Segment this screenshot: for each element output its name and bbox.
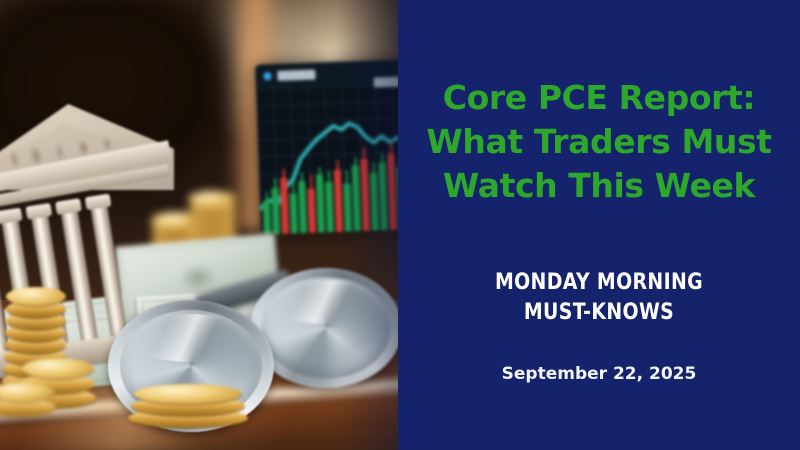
- monitor-label-chip: [277, 70, 315, 81]
- subtitle-line-2: MUST-KNOWS: [426, 298, 772, 328]
- banner-root: Core PCE Report: What Traders Must Watch…: [0, 0, 800, 450]
- coin-stack-under-magnifier: [128, 382, 248, 428]
- publish-date: September 22, 2025: [398, 364, 800, 384]
- headline-line-3: Watch This Week: [398, 164, 800, 208]
- coin-stack-foreground-3: [0, 370, 56, 418]
- text-panel: Core PCE Report: What Traders Must Watch…: [398, 0, 800, 450]
- subtitle-line-1: MONDAY MORNING: [426, 268, 772, 298]
- page-title: Core PCE Report: What Traders Must Watch…: [398, 76, 800, 208]
- headline-line-1: Core PCE Report:: [398, 76, 800, 120]
- hero-photo: [0, 0, 398, 450]
- series-subtitle: MONDAY MORNING MUST-KNOWS: [426, 268, 772, 328]
- photo-edge-vignette: [338, 0, 398, 450]
- headline-line-2: What Traders Must: [398, 120, 800, 164]
